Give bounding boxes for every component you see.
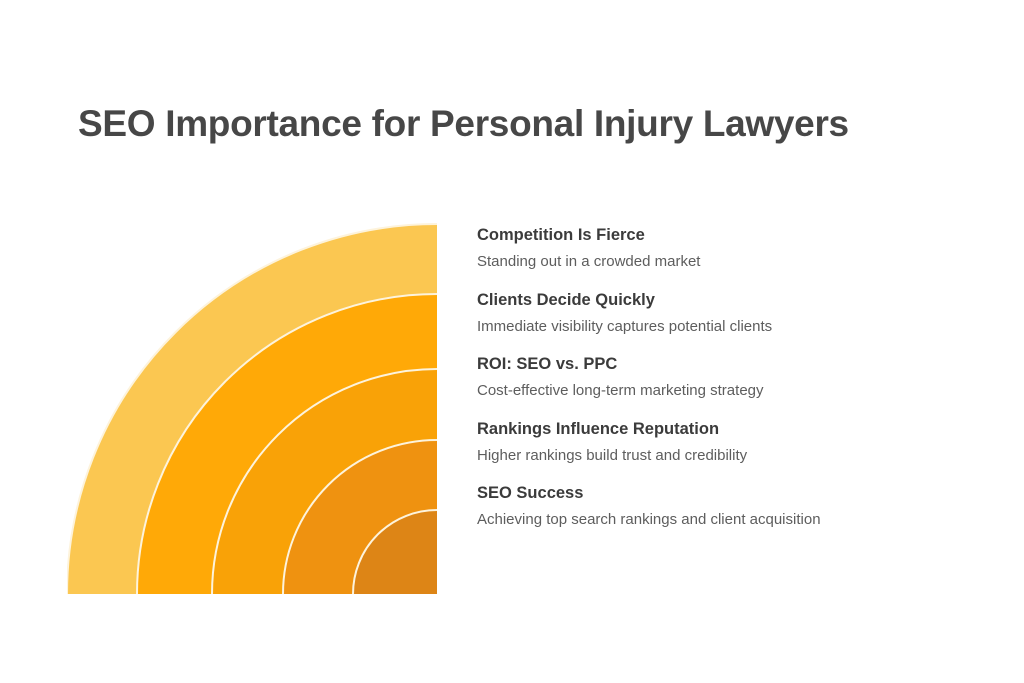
concentric-quarter-circle-graphic bbox=[67, 212, 437, 594]
list-item: Competition Is Fierce Standing out in a … bbox=[477, 224, 947, 273]
point-title: Rankings Influence Reputation bbox=[477, 418, 947, 440]
list-item: Rankings Influence Reputation Higher ran… bbox=[477, 418, 947, 467]
point-title: Competition Is Fierce bbox=[477, 224, 947, 246]
list-item: Clients Decide Quickly Immediate visibil… bbox=[477, 289, 947, 338]
point-title: Clients Decide Quickly bbox=[477, 289, 947, 311]
point-title: ROI: SEO vs. PPC bbox=[477, 353, 947, 375]
point-description: Immediate visibility captures potential … bbox=[477, 317, 947, 337]
point-description: Standing out in a crowded market bbox=[477, 252, 947, 272]
list-item: SEO Success Achieving top search ranking… bbox=[477, 482, 947, 531]
slide-canvas: SEO Importance for Personal Injury Lawye… bbox=[0, 0, 1024, 683]
points-list: Competition Is Fierce Standing out in a … bbox=[477, 224, 947, 531]
point-description: Cost-effective long-term marketing strat… bbox=[477, 381, 947, 401]
point-title: SEO Success bbox=[477, 482, 947, 504]
point-description: Achieving top search rankings and client… bbox=[477, 510, 947, 530]
point-description: Higher rankings build trust and credibil… bbox=[477, 446, 947, 466]
page-title: SEO Importance for Personal Injury Lawye… bbox=[78, 101, 958, 147]
quarter-circle-svg bbox=[67, 212, 437, 594]
list-item: ROI: SEO vs. PPC Cost-effective long-ter… bbox=[477, 353, 947, 402]
